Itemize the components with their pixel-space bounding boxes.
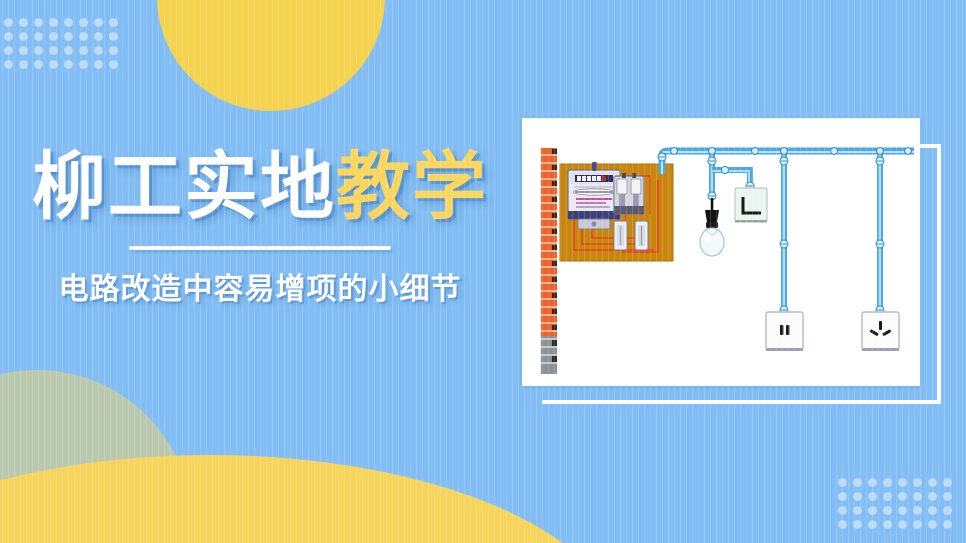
- dot: [19, 32, 28, 41]
- dot: [913, 520, 922, 529]
- dot: [79, 60, 88, 69]
- yellow-circle-top-decoration: [157, 0, 385, 111]
- distribution-board: [560, 162, 673, 261]
- dot: [34, 46, 43, 55]
- dot: [853, 478, 862, 487]
- dot: [838, 506, 847, 515]
- dot: [19, 46, 28, 55]
- dot: [79, 18, 88, 27]
- page-title-accent: 教学: [336, 145, 488, 228]
- dot: [898, 520, 907, 529]
- dot: [943, 506, 952, 515]
- dot: [64, 60, 73, 69]
- wall-switch: [735, 188, 767, 223]
- dot: [883, 506, 892, 515]
- dot: [34, 60, 43, 69]
- page-subtitle: 电路改造中容易增项的小细节: [0, 264, 520, 308]
- dot: [898, 492, 907, 501]
- house-wiring-diagram-image: [522, 118, 920, 386]
- dot: [928, 520, 937, 529]
- dot: [34, 32, 43, 41]
- dot: [943, 520, 952, 529]
- dot: [4, 60, 13, 69]
- yellow-circle-bottom-left-decoration: [0, 455, 620, 543]
- dot: [898, 506, 907, 515]
- dot: [49, 18, 58, 27]
- dot-grid-top-left: [4, 18, 124, 74]
- dot: [4, 32, 13, 41]
- dot: [868, 492, 877, 501]
- dot: [838, 492, 847, 501]
- dot: [94, 46, 103, 55]
- title-block: 柳工实地教学 电路改造中容易增项的小细节: [0, 150, 520, 308]
- dot: [109, 60, 118, 69]
- dot: [79, 32, 88, 41]
- dot: [19, 18, 28, 27]
- electricity-meter: [568, 162, 620, 229]
- two-pin-socket: [766, 312, 803, 351]
- dot: [883, 492, 892, 501]
- dot: [898, 478, 907, 487]
- dot: [838, 478, 847, 487]
- dot: [868, 506, 877, 515]
- dot: [4, 18, 13, 27]
- dot: [4, 46, 13, 55]
- dot: [913, 506, 922, 515]
- dot: [853, 520, 862, 529]
- dot: [943, 478, 952, 487]
- dot: [913, 492, 922, 501]
- main-circuit-breaker: [614, 173, 644, 214]
- poster-canvas: 柳工实地教学 电路改造中容易增项的小细节: [0, 0, 966, 543]
- dot: [883, 520, 892, 529]
- page-title-main: 柳工实地: [32, 145, 336, 228]
- dot: [868, 520, 877, 529]
- dot: [883, 478, 892, 487]
- title-divider: [129, 246, 391, 250]
- dot: [853, 506, 862, 515]
- three-pin-socket: [862, 312, 899, 351]
- dot: [109, 32, 118, 41]
- dot: [94, 32, 103, 41]
- dot: [79, 46, 88, 55]
- dot: [943, 492, 952, 501]
- dot: [928, 492, 937, 501]
- dot: [94, 18, 103, 27]
- dot: [913, 478, 922, 487]
- brick-wall: [539, 148, 557, 374]
- dot-grid-bottom-right: [838, 478, 958, 534]
- dot: [853, 492, 862, 501]
- dot: [109, 46, 118, 55]
- dot: [928, 478, 937, 487]
- dot: [94, 60, 103, 69]
- dot: [64, 32, 73, 41]
- dot: [868, 478, 877, 487]
- dot: [64, 46, 73, 55]
- dot: [49, 32, 58, 41]
- dot: [19, 60, 28, 69]
- dot: [49, 46, 58, 55]
- dot: [109, 18, 118, 27]
- dot: [49, 60, 58, 69]
- dot: [34, 18, 43, 27]
- dot: [838, 520, 847, 529]
- dot: [928, 506, 937, 515]
- page-title: 柳工实地教学: [0, 150, 520, 224]
- dot: [64, 18, 73, 27]
